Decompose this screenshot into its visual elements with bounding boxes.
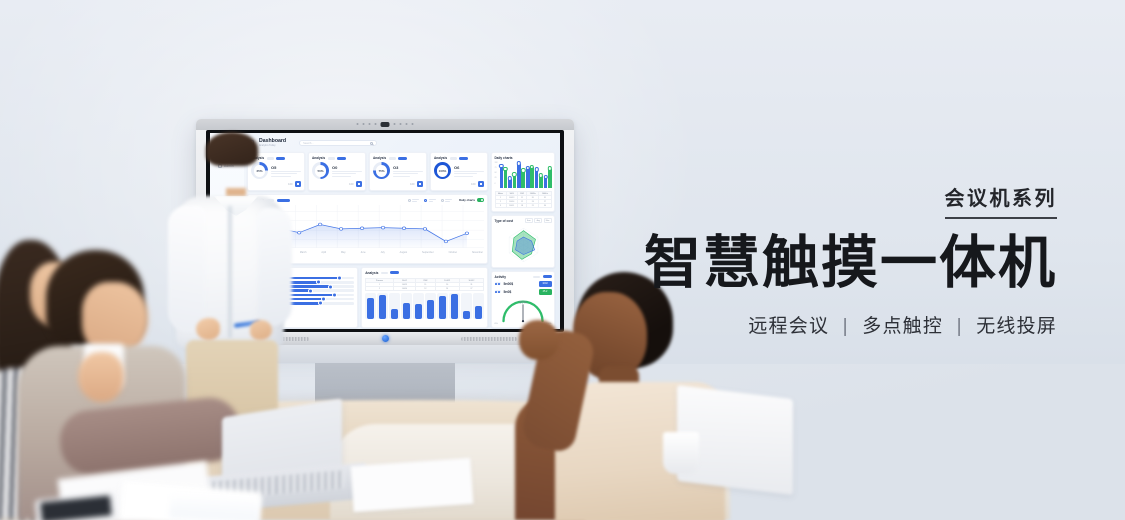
activity-card[interactable]: Activity 5n00$ 1002 (491, 271, 555, 328)
daily-charts-toggle[interactable]: Daily charts (459, 198, 484, 202)
card-title: Analysis (373, 156, 386, 160)
bar-slot (473, 293, 484, 319)
donut-gauge: 75% (373, 162, 390, 179)
x-tick: May (341, 251, 346, 254)
kpi-footnote: 100 (410, 183, 414, 186)
cell: 21 (527, 204, 539, 208)
bar-row (277, 281, 354, 284)
gauge-max: 100% (546, 323, 552, 325)
bar-group (500, 162, 508, 188)
bar-row (277, 298, 354, 301)
camera-module (357, 122, 414, 127)
cell: 18 (517, 204, 526, 208)
bottom-row: Analysis (247, 267, 488, 329)
speaker-grille-right (461, 337, 517, 341)
device-bottom-bezel (206, 332, 564, 345)
sidebar-item-label: Home (224, 142, 233, 146)
printed-chart (169, 492, 260, 520)
card-title: Analysis (434, 156, 447, 160)
search-input[interactable]: Search... (299, 140, 377, 147)
laptop-keyboard (212, 470, 344, 500)
kpi-card[interactable]: Analysis 100% (430, 152, 488, 191)
vertical-bar-chart (365, 293, 484, 319)
bar-group (517, 162, 525, 188)
table-row: 2 10054 12 24 27 (366, 287, 484, 291)
card-tag (450, 157, 457, 160)
headline: 智慧触摸一体机 (644, 233, 1057, 295)
sidebar-item-home[interactable]: Home (215, 142, 239, 146)
card-action-button[interactable] (276, 271, 285, 274)
dashboard-app[interactable]: Home Dashboard Admin (210, 133, 560, 329)
text-placeholder-lines (393, 171, 423, 177)
search-placeholder: Search... (303, 142, 313, 145)
laptop-screen (222, 398, 342, 509)
card-title: Analysis (251, 198, 264, 202)
chip[interactable]: Max (544, 218, 552, 223)
status-badge: 45.2 (539, 289, 552, 295)
separator: | (836, 316, 856, 337)
toggle-switch[interactable] (477, 198, 484, 202)
donut-gauge: 100% (434, 162, 451, 179)
kpi-value: O0 (332, 165, 362, 170)
x-tick: February (275, 251, 285, 254)
card-action-button[interactable] (390, 271, 399, 274)
card-title: Type of cost (495, 219, 514, 223)
cell: 12 (416, 287, 435, 291)
vertical-bars-card[interactable]: Analysis Process 10.02 (361, 267, 488, 329)
bar-slot (365, 293, 376, 319)
x-tick: November (472, 251, 483, 254)
speaker-grille-left (253, 337, 309, 341)
stand-shelf (196, 345, 574, 363)
conference-table (0, 400, 700, 520)
sidebar-item-admin[interactable]: Admin (215, 164, 239, 168)
chip-group[interactable]: Sum Avg Max (525, 218, 552, 223)
card-tag (267, 272, 274, 275)
device-stand (196, 345, 574, 403)
daily-charts-table: Metric 1003 1102 1003-b 1004-b 1 (495, 191, 552, 208)
attendee-right-neck (599, 366, 639, 406)
expand-icon (297, 183, 299, 185)
activity-label: 5n0$ (504, 290, 512, 294)
x-tick: April (321, 251, 326, 254)
series-label: 会议机系列 (945, 186, 1058, 219)
attendee-right-shoulder (515, 398, 585, 520)
card-title: Analysis (312, 156, 325, 160)
bar-slot (401, 293, 412, 319)
donut-value: 25% (256, 169, 262, 173)
card-title: Analysis (251, 156, 264, 160)
gauge-chart: 50% (495, 297, 552, 323)
gauge-range: 0% 100% (495, 323, 552, 325)
feature-3: 无线投屏 (976, 316, 1057, 337)
expand-icon (270, 290, 272, 292)
legend-placeholder (251, 285, 265, 296)
svg-text:50%: 50% (519, 300, 527, 304)
donut-gauge: 25% (251, 162, 268, 179)
card-action-button[interactable] (398, 157, 407, 160)
grid-icon (218, 153, 222, 157)
laptop-base (196, 463, 366, 514)
bar-slot (437, 293, 448, 319)
link-icon (495, 290, 501, 293)
expand-icon (358, 183, 360, 185)
kpi-value: O3 (393, 165, 423, 170)
line-chart-card[interactable]: Analysis (247, 194, 488, 264)
table-row: 3 10011 18 21 34 (495, 204, 551, 208)
expand-button[interactable] (268, 288, 274, 294)
attendee-right-top (555, 382, 725, 520)
eyebrow-wrap: 会议机系列 (644, 186, 1057, 219)
card-title: Daily charts (495, 156, 552, 160)
device-screen[interactable]: Home Dashboard Admin (206, 130, 564, 332)
attendee-left-top (0, 368, 106, 520)
kpi-card[interactable]: Analysis 50% (308, 152, 366, 191)
card-tag (381, 272, 388, 275)
cell: 27 (459, 287, 483, 291)
card-tag (389, 157, 396, 160)
feature-list: 远程会议 | 多点触控 | 无线投屏 (644, 311, 1057, 338)
kpi-footnote: 100 (349, 183, 353, 186)
cell: 2 (366, 287, 393, 291)
x-tick: January (252, 251, 261, 254)
type-of-cost-card[interactable]: Type of cost Sum Avg Max (491, 215, 555, 269)
radio-option[interactable] (441, 199, 453, 202)
text-placeholder-lines (271, 171, 301, 177)
kpi-value: O6 (454, 165, 484, 170)
separator: | (950, 316, 970, 337)
card-title: Activity (495, 275, 507, 279)
expand-button[interactable] (417, 181, 423, 187)
gauge-min: 0% (495, 323, 498, 325)
x-tick: March (300, 251, 307, 254)
cell: 3 (495, 204, 506, 208)
x-tick: August (400, 251, 407, 254)
card-tag (328, 157, 335, 160)
laptop-right (677, 385, 793, 495)
horizontal-bars-card[interactable]: Analysis (247, 267, 358, 329)
kpi-card[interactable]: Analysis 75% (369, 152, 427, 191)
card-action-button[interactable] (543, 275, 552, 278)
bar-group (508, 162, 516, 188)
search-icon (370, 142, 373, 145)
smartphone (35, 492, 117, 520)
dashboard-right-rail: Daily charts 1007550250 (491, 152, 555, 328)
x-tick: September (422, 251, 434, 254)
text-placeholder-lines (332, 171, 362, 177)
device-top-bezel (196, 119, 574, 130)
power-button[interactable] (382, 335, 389, 342)
daily-charts-card[interactable]: Daily charts 1007550250 (491, 152, 555, 212)
expand-icon (419, 183, 421, 185)
card-title: Analysis (251, 271, 264, 275)
cell: 34 (539, 204, 551, 208)
data-table: Process 10.02 7602 10.012 10.012 (365, 278, 484, 291)
toggle-label: Daily charts (459, 198, 475, 202)
paper-document (119, 480, 262, 520)
bar-slot (377, 293, 388, 319)
kpi-value: O5 (271, 165, 301, 170)
sidebar-item-label: Admin (224, 164, 234, 168)
product-banner: Home Dashboard Admin (0, 0, 1125, 520)
app-logo-icon (248, 140, 254, 146)
camera-lens-icon (381, 122, 390, 127)
dashboard-header: Dashboard Analytics Today Search... (247, 138, 555, 149)
attendee-center-arm (57, 395, 243, 477)
interactive-flat-panel: Home Dashboard Admin (196, 119, 574, 403)
expand-icon (480, 183, 482, 185)
horizontal-bar-chart (277, 277, 354, 305)
chip[interactable]: Sum (525, 218, 533, 223)
expand-button[interactable] (478, 181, 484, 187)
donut-value: 75% (378, 169, 384, 173)
card-tag (267, 199, 274, 202)
bar-slot (389, 293, 400, 319)
x-tick: June (360, 251, 365, 254)
feature-1: 远程会议 (748, 316, 829, 337)
radar-chart (495, 225, 552, 265)
paper-document (58, 461, 213, 520)
kpi-footnote: 100 (288, 183, 292, 186)
link-icon (495, 282, 501, 285)
x-tick: October (449, 251, 458, 254)
kpi-card[interactable]: Analysis 25% (247, 152, 305, 191)
radio-option-selected[interactable] (424, 199, 436, 202)
x-axis-labels: January February March April May June Ju… (251, 251, 484, 254)
card-action-button[interactable] (276, 157, 285, 160)
kpi-row: Analysis 25% (247, 152, 488, 191)
card-title: Analysis (365, 271, 378, 275)
user-icon (218, 164, 222, 168)
cell: 10011 (506, 204, 517, 208)
card-action-button[interactable] (277, 199, 290, 202)
chip[interactable]: Avg (534, 218, 542, 223)
expand-button[interactable] (356, 181, 362, 187)
dashboard-sidebar[interactable]: Home Dashboard Admin (210, 133, 244, 329)
card-tag (533, 276, 540, 279)
cell: 24 (435, 287, 459, 291)
feature-2: 多点触控 (862, 316, 943, 337)
card-action-button[interactable] (337, 157, 346, 160)
status-badge: 1002 (539, 281, 552, 287)
bar-group (544, 162, 552, 188)
donut-value: 100% (439, 169, 447, 173)
bar-row (277, 277, 354, 280)
bar-row (277, 302, 354, 305)
donut-value: 50% (317, 169, 323, 173)
paper-document (351, 458, 474, 512)
kpi-footnote: 100 (471, 183, 475, 186)
cell: 10054 (393, 287, 416, 291)
activity-label: 5n00$ (504, 282, 514, 286)
activity-row[interactable]: 5n0$ 45.2 (495, 289, 552, 295)
card-action-button[interactable] (459, 157, 468, 160)
bar-group (535, 162, 543, 188)
sidebar-item-label: Dashboard (224, 153, 242, 157)
x-tick: July (381, 251, 385, 254)
text-placeholder-lines (454, 171, 484, 177)
bar-slot (449, 293, 460, 319)
bar-slot (413, 293, 424, 319)
expand-button[interactable] (295, 181, 301, 187)
activity-row[interactable]: 5n00$ 1002 (495, 281, 552, 287)
card-tag (267, 157, 274, 160)
page-title: Dashboard (259, 138, 286, 144)
sidebar-item-dashboard[interactable]: Dashboard (215, 153, 239, 157)
attendee-center-top (18, 346, 186, 520)
line-chart-plot (251, 205, 484, 249)
donut-gauge: 50% (312, 162, 329, 179)
radio-option[interactable] (408, 199, 420, 202)
home-icon (218, 142, 222, 146)
chart-options[interactable] (408, 199, 453, 202)
coffee-cup-right (663, 432, 699, 474)
y-axis-labels: 1007550250 (495, 162, 498, 185)
bar-row (277, 294, 354, 297)
dashboard-main: Dashboard Analytics Today Search... (244, 133, 560, 329)
bar-slot (425, 293, 436, 319)
marketing-copy: 会议机系列 智慧触摸一体机 远程会议 | 多点触控 | 无线投屏 (644, 186, 1057, 338)
device-bezel: Home Dashboard Admin (196, 119, 574, 345)
bar-group (526, 162, 534, 188)
page-subtitle: Analytics Today (259, 144, 276, 147)
grouped-bar-chart: 1007550250 (495, 162, 552, 188)
bar-slot (461, 293, 472, 319)
bar-row (277, 285, 354, 288)
conference-table-right (330, 424, 730, 520)
bar-row (277, 289, 354, 292)
